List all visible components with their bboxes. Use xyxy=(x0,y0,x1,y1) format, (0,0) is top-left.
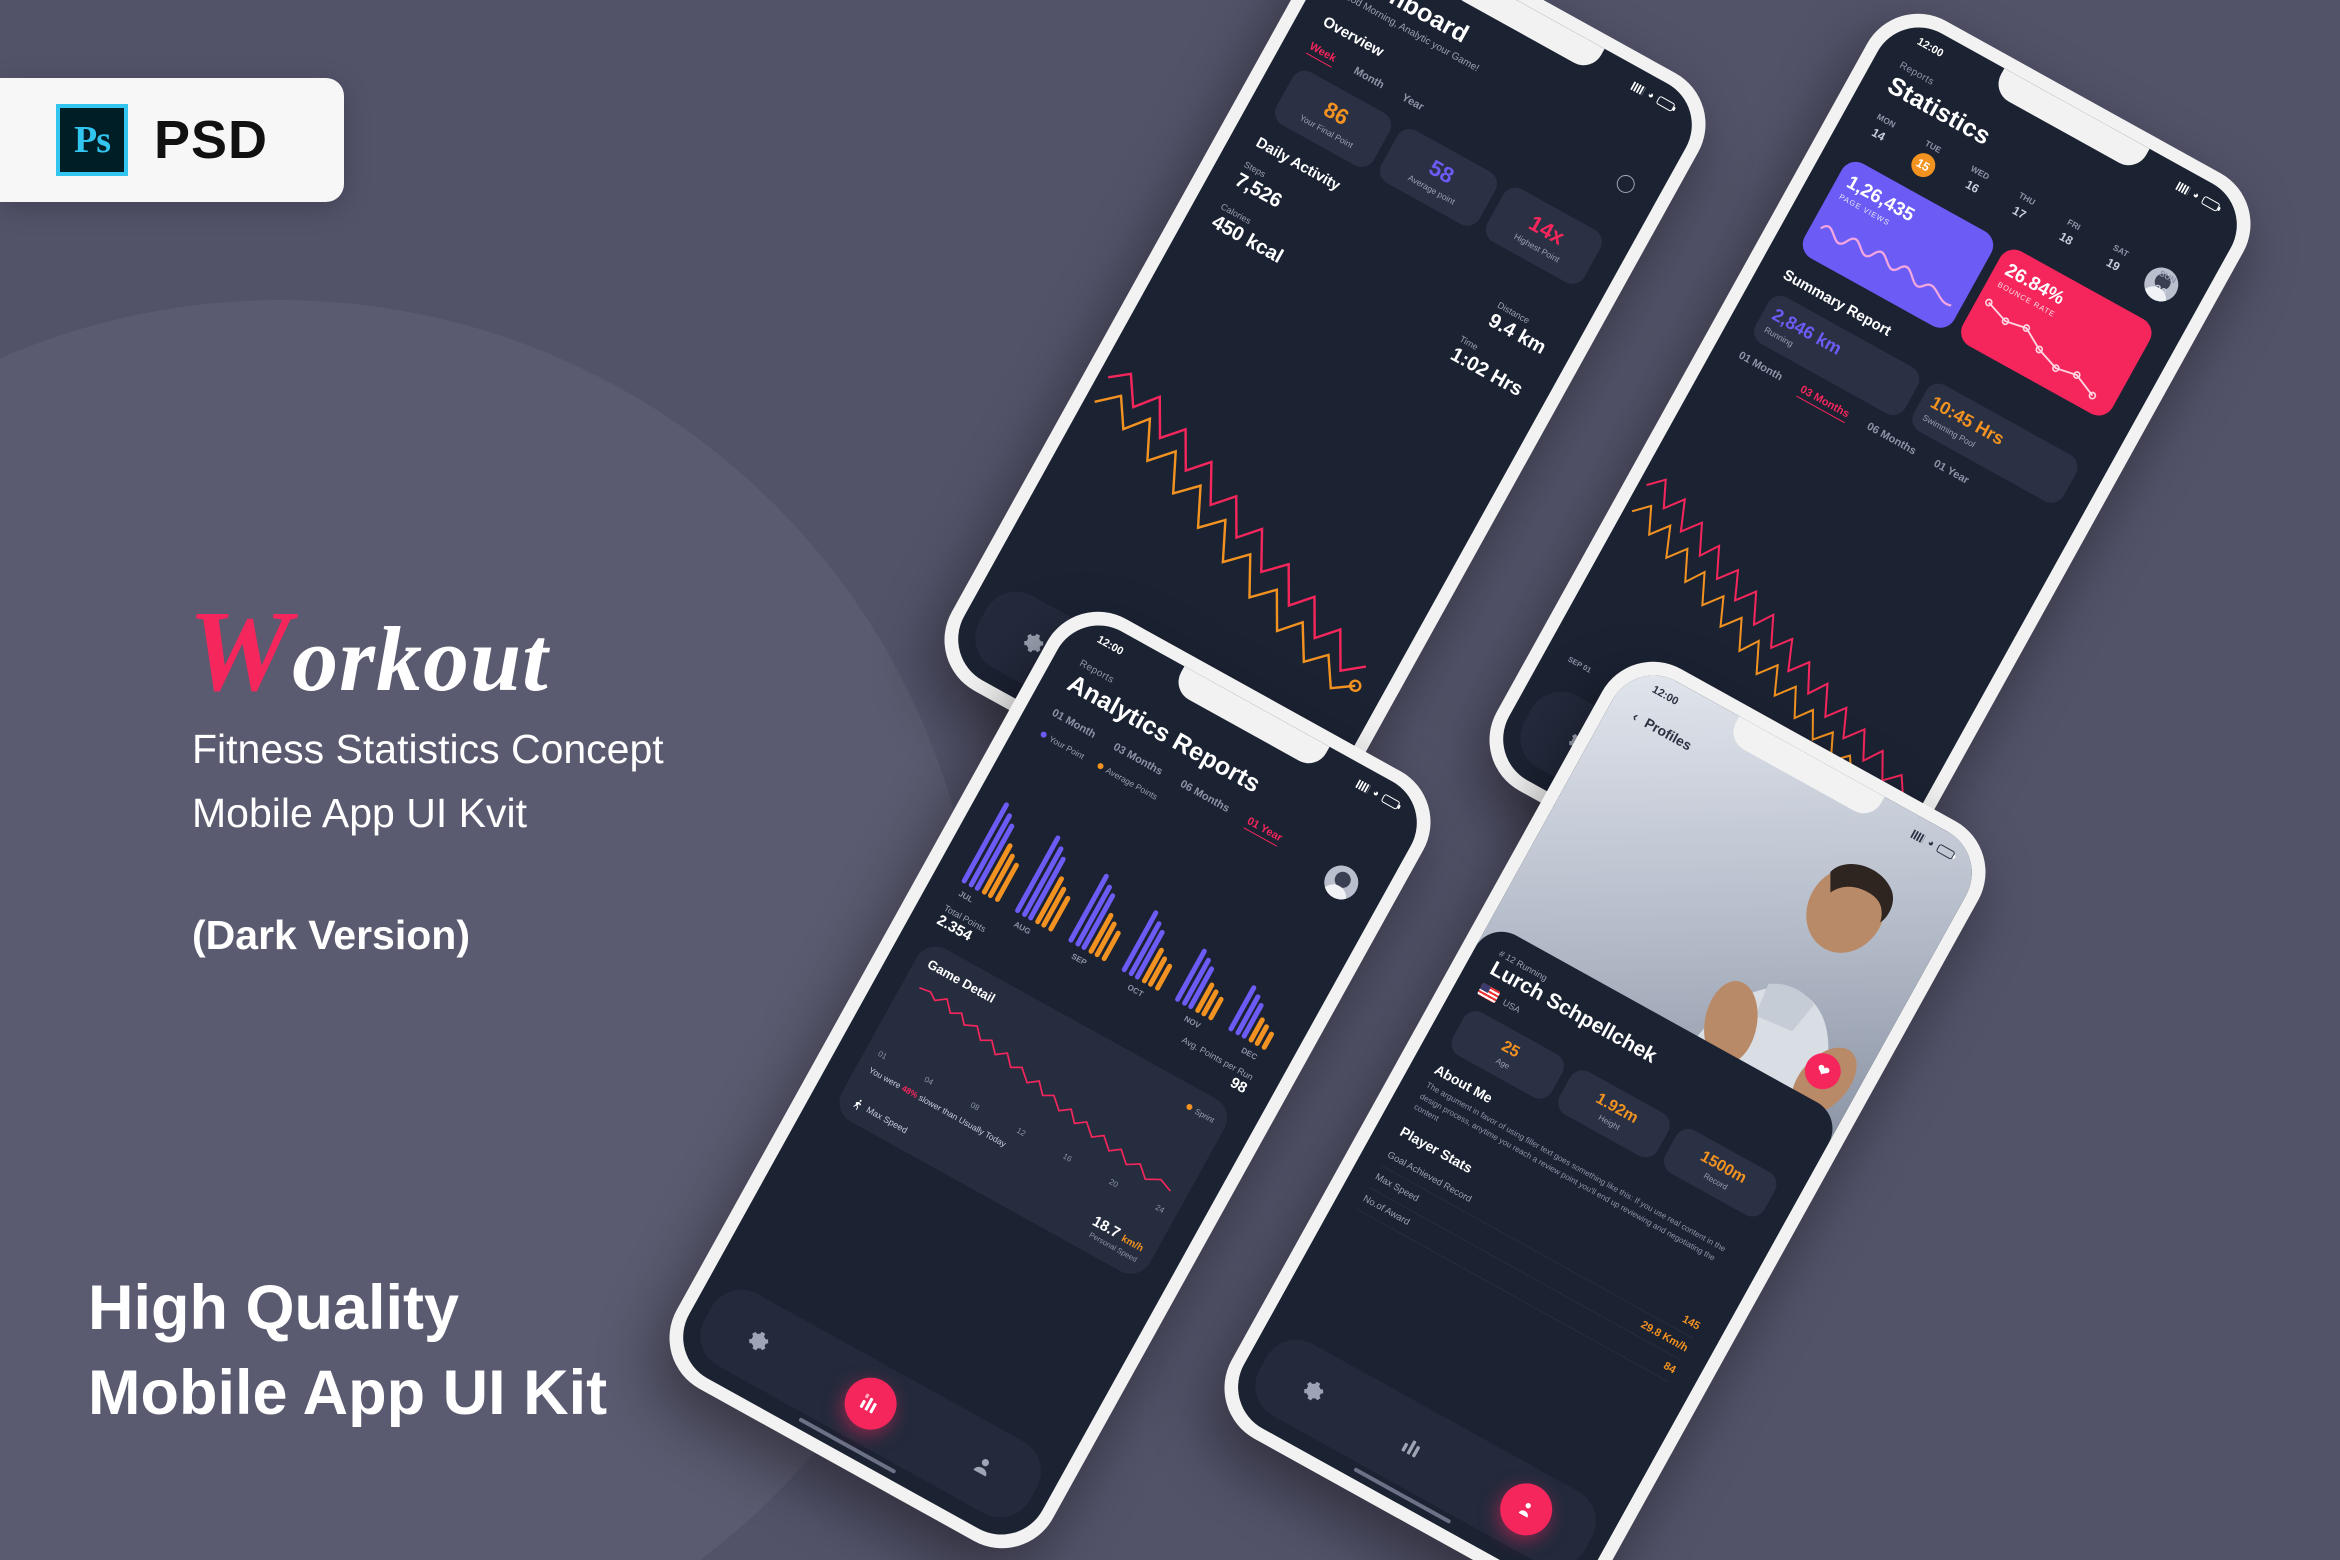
wifi-icon: ◕ xyxy=(1371,787,1382,800)
bar-group-nov xyxy=(1175,948,1241,1021)
wifi-icon: ◕ xyxy=(1926,837,1937,850)
promo-line-2: Mobile App UI Kvit xyxy=(192,790,527,837)
heart-icon: ❤ xyxy=(1812,1059,1833,1083)
signal-icon xyxy=(1910,829,1926,843)
wifi-icon: ◕ xyxy=(2191,189,2202,202)
profile-fab-button[interactable] xyxy=(1491,1474,1562,1545)
legend-dot-purple xyxy=(1040,731,1048,739)
month-label: DEC xyxy=(1240,1046,1259,1062)
day-dow: FRI xyxy=(2066,217,2083,232)
promo-big-2: Mobile App UI Kit xyxy=(88,1357,607,1429)
tab-month[interactable]: Month xyxy=(1350,65,1386,94)
signal-icon xyxy=(1355,779,1371,793)
promo-copy: Workout Fitness Statistics Concept Mobil… xyxy=(0,0,900,1560)
usa-flag-icon xyxy=(1477,982,1501,1003)
month-label: NOV xyxy=(1183,1014,1203,1030)
chart-icon[interactable] xyxy=(1397,1431,1430,1464)
search-icon[interactable] xyxy=(1613,172,1637,196)
row-value: 145 xyxy=(1680,1313,1702,1332)
psd-badge: Ps PSD xyxy=(0,78,344,202)
x-label: 16 xyxy=(1061,1152,1073,1164)
battery-icon xyxy=(1381,793,1401,810)
day-sat[interactable]: SAT 19 xyxy=(2092,239,2137,287)
metric-steps: Steps 7,526 xyxy=(1231,159,1291,213)
battery-icon xyxy=(1936,843,1956,860)
promo-big-1: High Quality xyxy=(88,1272,459,1344)
x-label: 24 xyxy=(1154,1203,1166,1215)
wifi-icon: ◕ xyxy=(1646,89,1657,102)
game-legend-sprint: Sprint xyxy=(1184,1102,1215,1125)
legend-dot-orange xyxy=(1096,762,1104,770)
promo-line-3: (Dark Version) xyxy=(192,912,470,959)
tab-year[interactable]: Year xyxy=(1398,92,1426,116)
signal-icon xyxy=(2175,181,2191,195)
day-thu[interactable]: THU 17 xyxy=(1998,187,2043,235)
month-label: SEP xyxy=(1070,952,1088,968)
month-label: AUG xyxy=(1012,920,1032,936)
day-wed[interactable]: WED 16 xyxy=(1951,161,1996,209)
photoshop-icon: Ps xyxy=(56,104,128,176)
legend-label: Sprint xyxy=(1193,1107,1216,1125)
day-fri[interactable]: FRI 18 xyxy=(2045,213,2090,261)
signal-icon xyxy=(1630,81,1646,95)
bar-group-dec xyxy=(1228,985,1290,1051)
legend-dot-orange xyxy=(1185,1103,1193,1111)
x-label: 12 xyxy=(1015,1126,1027,1138)
tab-week[interactable]: Week xyxy=(1306,40,1338,67)
country-label: USA xyxy=(1501,997,1522,1015)
day-tue[interactable]: TUE 15 xyxy=(1904,135,1949,183)
brand-rest: orkout xyxy=(292,608,549,710)
x-label: 04 xyxy=(923,1075,935,1087)
x-label: 08 xyxy=(969,1100,981,1112)
promo-line-1: Fitness Statistics Concept xyxy=(192,726,664,773)
tab-01-year[interactable]: 01 Year xyxy=(1930,458,1971,490)
tab-01-month[interactable]: 01 Month xyxy=(1735,349,1784,386)
day-mon[interactable]: MON 14 xyxy=(1857,109,1902,157)
psd-badge-label: PSD xyxy=(154,109,268,171)
battery-icon xyxy=(2201,195,2221,212)
battery-icon xyxy=(1656,95,1676,112)
x-label: 20 xyxy=(1108,1177,1120,1189)
month-label: OCT xyxy=(1126,983,1145,999)
brand-initial: W xyxy=(188,588,292,716)
bar-group-sep xyxy=(1068,873,1143,962)
brand-title: Workout xyxy=(188,586,549,719)
gear-icon[interactable] xyxy=(1297,1375,1330,1408)
row-value: 84 xyxy=(1661,1360,1678,1376)
month-label: JUL xyxy=(957,889,975,904)
person-icon[interactable] xyxy=(967,1450,1000,1483)
bar-group-oct xyxy=(1121,910,1192,992)
